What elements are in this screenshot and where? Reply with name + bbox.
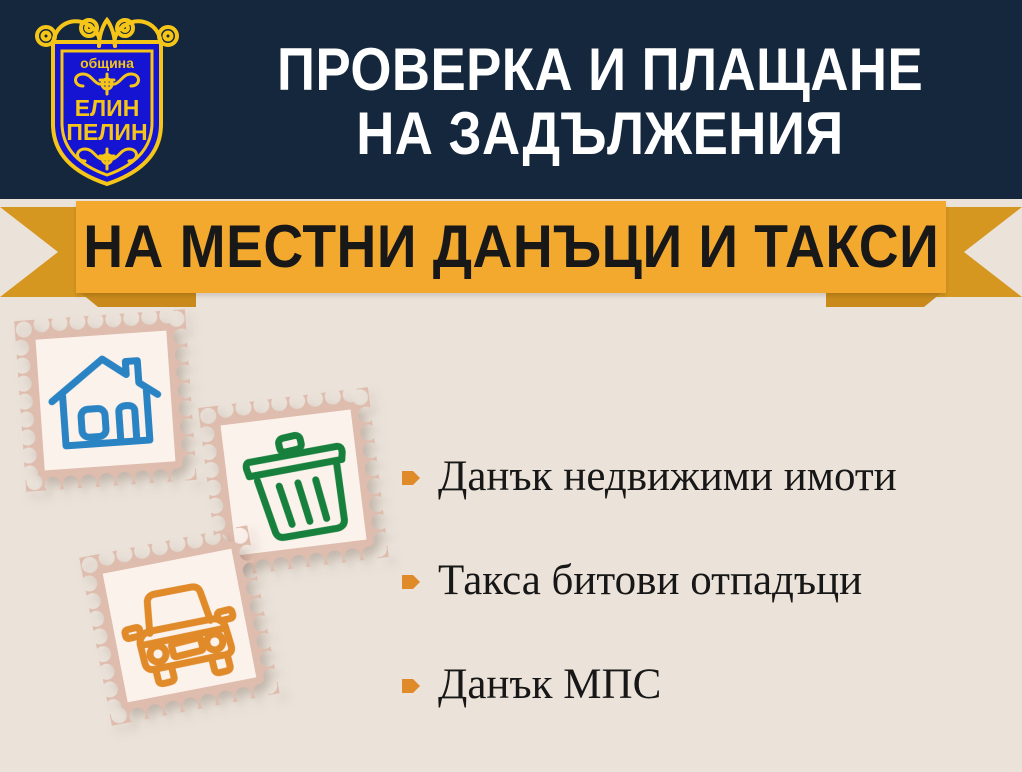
service-label: Такса битови отпадъци — [438, 559, 862, 602]
bullet-arrow-icon — [400, 675, 422, 697]
ribbon-label: НА МЕСТНИ ДАНЪЦИ И ТАКСИ — [83, 217, 939, 277]
stamp-card-car — [77, 523, 282, 728]
service-label: Данък МПС — [438, 663, 661, 706]
bullet-arrow-icon — [400, 467, 422, 489]
page-title-line-1: ПРОВЕРКА И ПЛАЩАНЕ — [277, 38, 923, 102]
logo-municipality-word: община — [80, 55, 134, 71]
stamp-card-house — [12, 307, 199, 494]
ribbon-band: НА МЕСТНИ ДАНЪЦИ И ТАКСИ — [76, 201, 946, 293]
list-item[interactable]: Данък МПС — [400, 632, 1010, 736]
page-title: ПРОВЕРКА И ПЛАЩАНЕ НА ЗАДЪЛЖЕНИЯ — [190, 22, 1010, 182]
logo-name-line-2: ПЕЛИН — [66, 119, 147, 145]
poster-canvas: община ЕЛИН ПЕЛИН ПРОВЕРКА И ПЛАЩАНЕ НА … — [0, 0, 1022, 772]
list-item[interactable]: Данък недвижими имоти — [400, 424, 1010, 528]
page-title-line-2: НА ЗАДЪЛЖЕНИЯ — [356, 102, 843, 166]
bullet-arrow-icon — [400, 571, 422, 593]
services-list: Данък недвижими имоти Такса битови отпад… — [400, 424, 1010, 736]
subtitle-ribbon: НА МЕСТНИ ДАНЪЦИ И ТАКСИ — [0, 197, 1022, 307]
coat-of-arms-logo: община ЕЛИН ПЕЛИН — [31, 6, 183, 192]
list-item[interactable]: Такса битови отпадъци — [400, 528, 1010, 632]
logo-name-line-1: ЕЛИН — [75, 95, 140, 121]
service-label: Данък недвижими имоти — [438, 455, 897, 498]
